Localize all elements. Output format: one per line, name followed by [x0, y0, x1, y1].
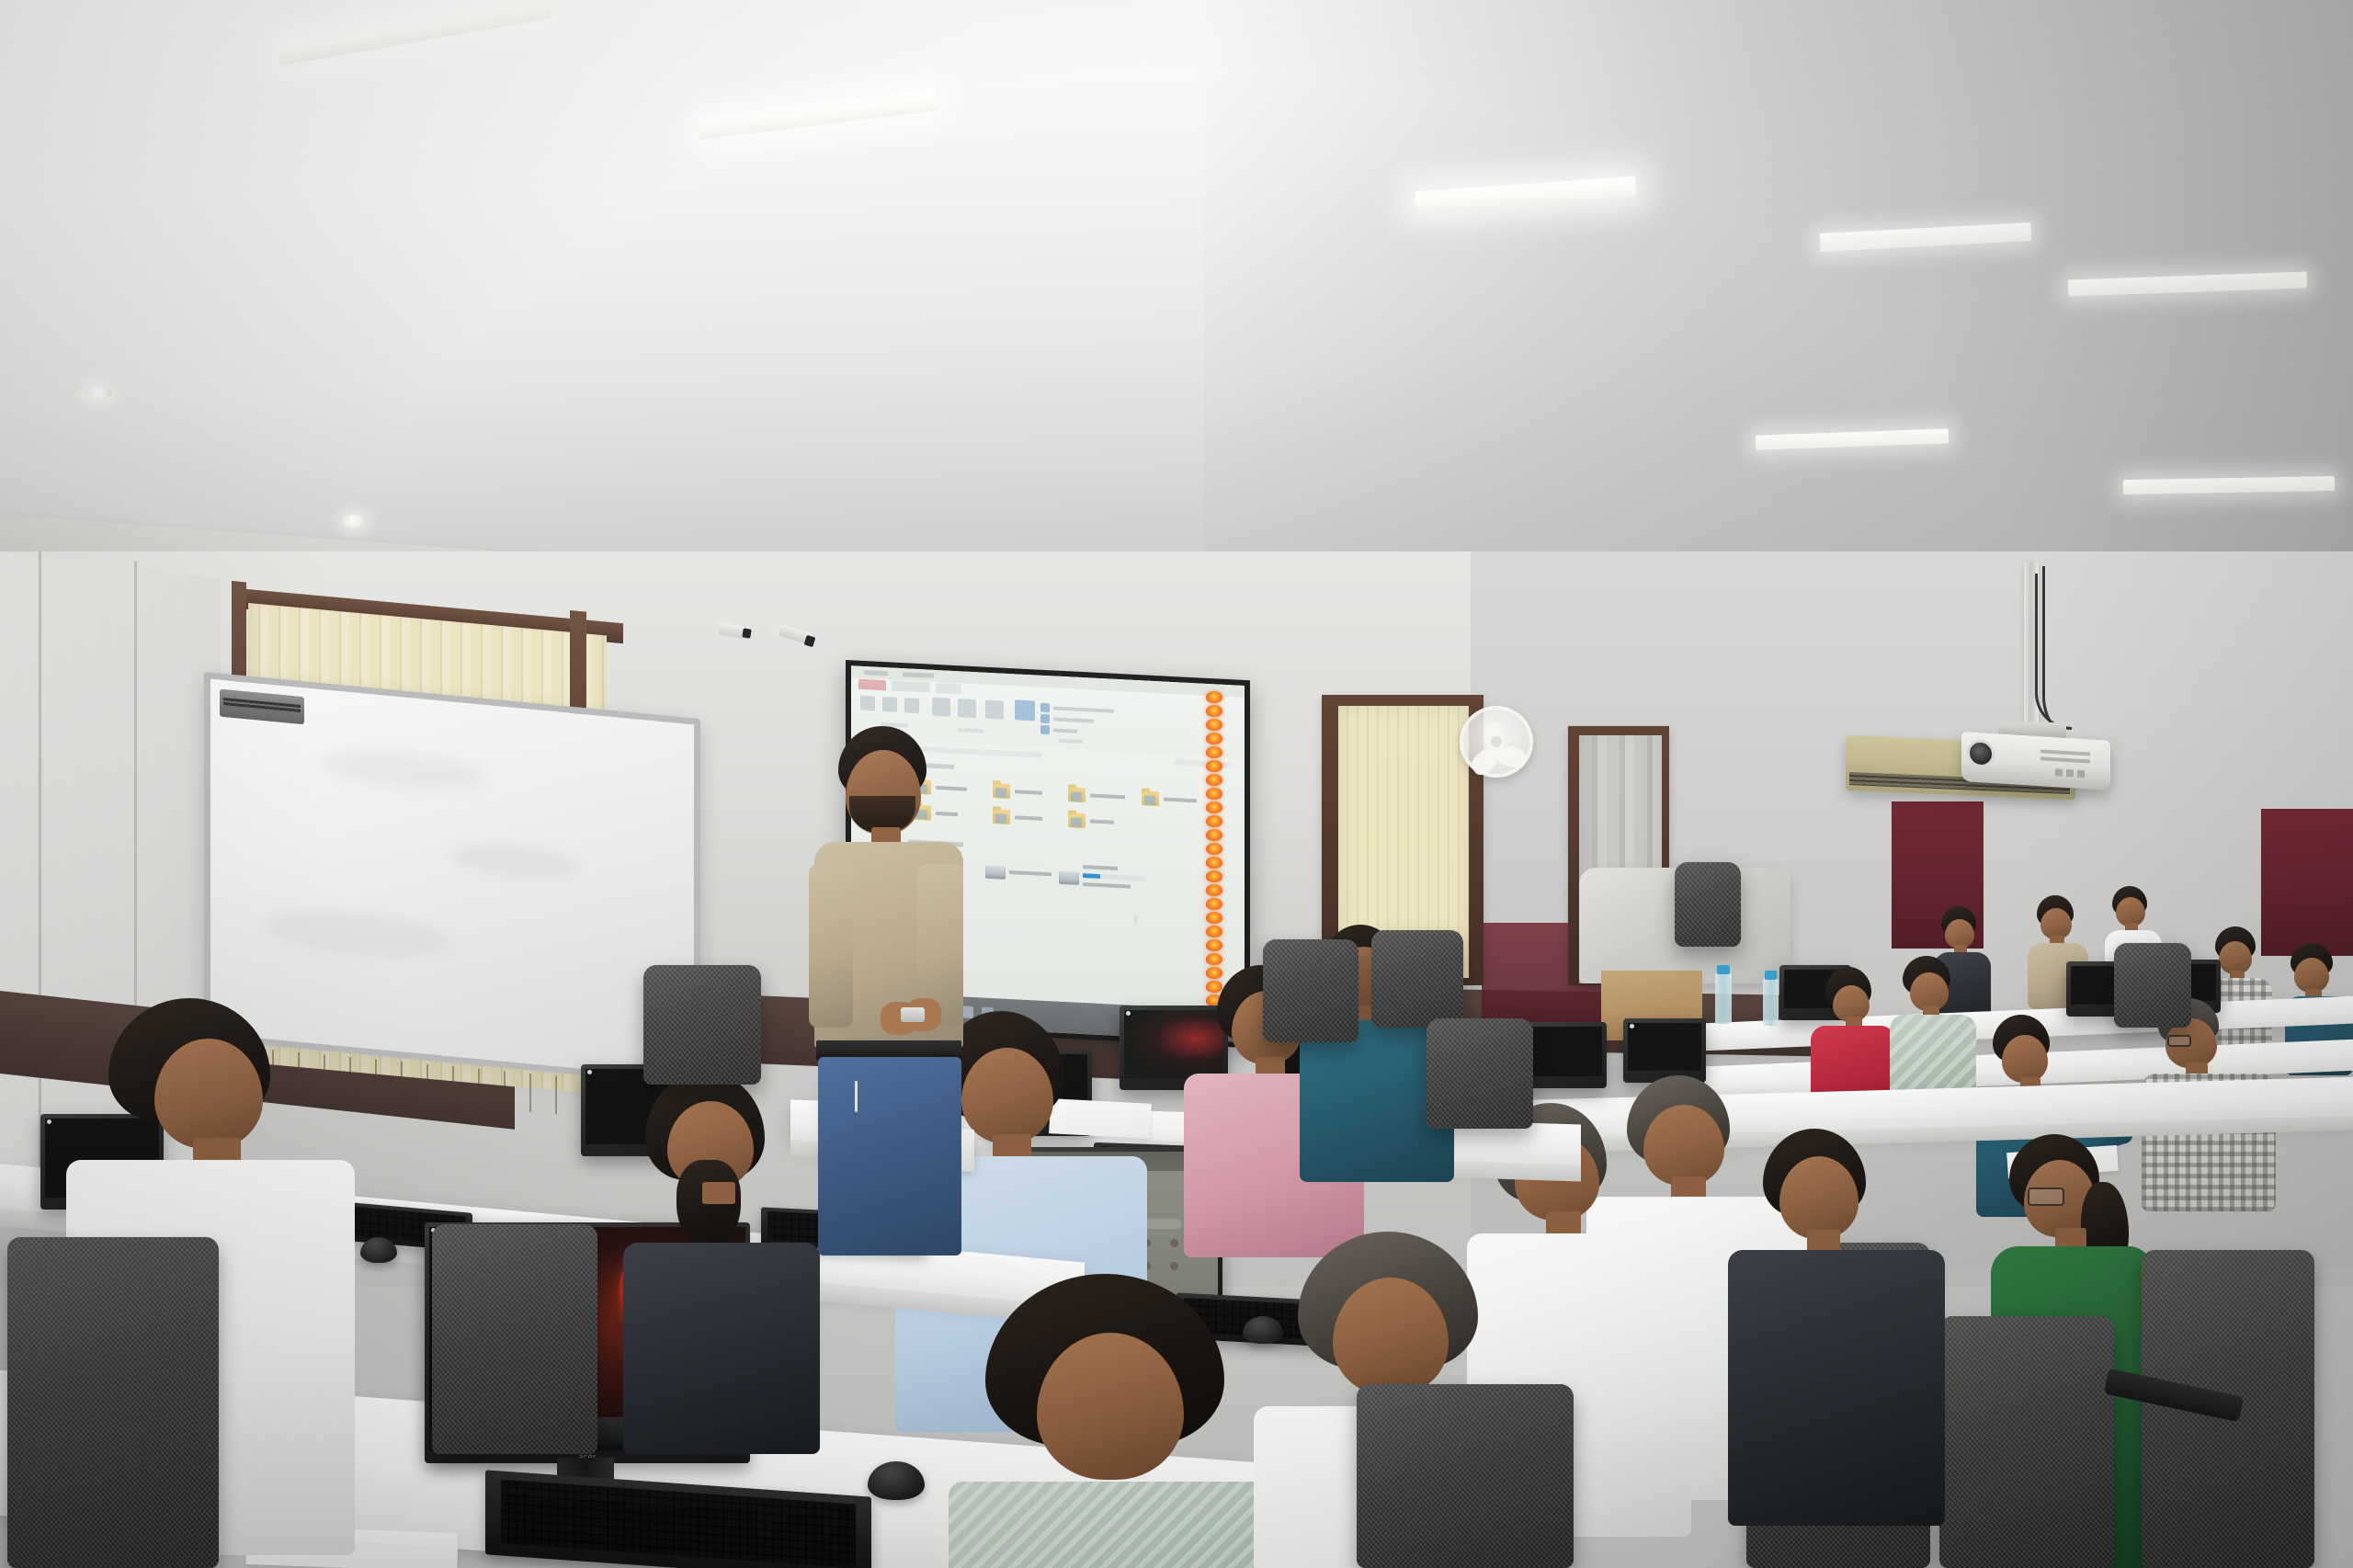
chair-bg-center-1[interactable] [1371, 930, 1463, 1028]
screen-redflower [1124, 1010, 1223, 1078]
mouse-chrome-station[interactable] [1243, 1316, 1283, 1344]
water-bottle-1[interactable] [1715, 972, 1732, 1024]
whiteboard[interactable] [204, 672, 700, 1086]
ribbon-label-system-properties [1053, 717, 1094, 722]
wall-seam-1 [39, 551, 41, 1195]
maroon-wall-panel-2 [2261, 809, 2353, 956]
chair-right-3[interactable] [1939, 1316, 2114, 1568]
ribbon-cmd-properties[interactable] [860, 696, 875, 711]
chair-ponytail[interactable] [432, 1224, 597, 1454]
monitor-mid-right-1[interactable] [1522, 1022, 1607, 1088]
ribbon-cmd-add-network-location[interactable] [985, 700, 1004, 720]
ribbon-cmd-system-properties[interactable] [1040, 714, 1050, 724]
ribbon-group-system [1059, 739, 1083, 744]
folder-label-3d-objects [936, 786, 967, 791]
presenter-pocket-pen [855, 1081, 858, 1112]
chair-bg-left-1[interactable] [643, 965, 761, 1085]
eyeglasses-green-saree [2028, 1187, 2064, 1206]
folder-desktop[interactable] [993, 783, 1010, 799]
drive-capacity-bar [1083, 873, 1145, 881]
folder-label-downloads [1164, 798, 1197, 803]
ribbon-tab-file[interactable] [858, 679, 886, 691]
mouse-cursor [1134, 915, 1137, 924]
water-bottle-2-cap [1765, 971, 1777, 980]
chair-bg-center-2[interactable] [1427, 1018, 1533, 1129]
ceiling-shaded-zone [1204, 0, 2353, 643]
chair-bg-right-1[interactable] [2114, 943, 2191, 1028]
ribbon-cmd-map-network-drive[interactable] [958, 699, 976, 718]
water-bottle-2[interactable] [1763, 978, 1779, 1026]
ribbon-cmd-access-media[interactable] [932, 698, 950, 717]
light-panel-1 [276, 0, 551, 66]
drive-label-local-disk-c [1083, 865, 1118, 870]
chair-bg-left-2[interactable] [1263, 939, 1358, 1042]
folder-downloads[interactable] [1142, 790, 1159, 806]
ribbon-label-manage [1053, 728, 1077, 733]
folder-label-desktop [1015, 790, 1042, 795]
eyeglasses-1 [2167, 1035, 2191, 1047]
folder-label-music [936, 812, 958, 816]
chair-front-left[interactable] [7, 1237, 219, 1568]
drive-free-space-text [1083, 882, 1131, 889]
projector-cable-2 [2035, 574, 2072, 730]
ribbon-cmd-open-settings[interactable] [1015, 699, 1035, 721]
folder-label-videos [1090, 819, 1114, 824]
mouse-row1-left[interactable] [360, 1237, 397, 1263]
ribbon-tab-computer[interactable] [892, 681, 930, 693]
folder-pictures[interactable] [993, 809, 1010, 824]
water-bottle-1-cap [1717, 965, 1730, 974]
classroom-scene: Google [0, 0, 2353, 1568]
ribbon-group-network [958, 728, 983, 733]
folder-label-documents [1090, 793, 1125, 799]
light-panel-2 [699, 88, 938, 140]
wall-fan [1460, 706, 1533, 778]
ribbon-cmd-uninstall[interactable] [1040, 703, 1050, 713]
folder-documents[interactable] [1068, 787, 1086, 802]
shortcut-tile-5[interactable] [1170, 1239, 1178, 1247]
whiteboard-eraser[interactable] [220, 689, 304, 725]
ribbon-tab-view[interactable] [936, 683, 961, 694]
downlight-1 [85, 386, 112, 401]
chair-background-1[interactable] [1675, 862, 1741, 947]
ribbon-cmd-manage[interactable] [1040, 725, 1050, 735]
presentation-remote-clicker[interactable] [901, 1007, 925, 1022]
drive-local-disk-c[interactable] [1059, 871, 1079, 885]
chair-front-center[interactable] [1357, 1384, 1574, 1568]
ribbon-cmd-rename[interactable] [904, 698, 919, 713]
monitor-mid-right-2[interactable] [1623, 1018, 1706, 1083]
ribbon-cmd-open[interactable] [882, 697, 897, 712]
cctv-camera-left-lens [742, 628, 751, 638]
folder-videos[interactable] [1068, 812, 1086, 828]
presenter-jeans [818, 1057, 961, 1256]
presenter-arm-left [809, 864, 853, 1028]
folder-label-pictures [1015, 815, 1042, 821]
drive-label-dvd-rw [1009, 870, 1051, 876]
search-box[interactable] [1175, 759, 1232, 767]
drive-dvd-rw[interactable] [985, 866, 1006, 880]
wall-fan-hub [1491, 736, 1502, 747]
ribbon-label-uninstall [1053, 706, 1114, 712]
downlight-2 [342, 515, 366, 528]
paper-sheet-row2[interactable] [1049, 1098, 1152, 1139]
ponytail [676, 1160, 741, 1248]
